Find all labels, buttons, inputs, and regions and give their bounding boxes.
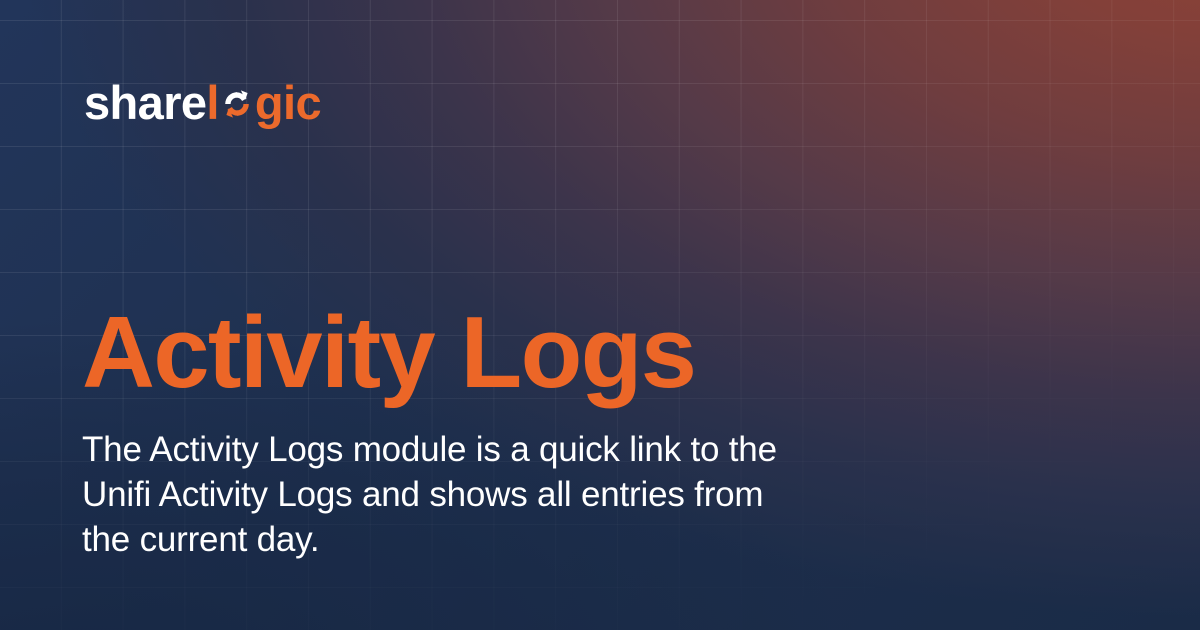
logo-text-l: l <box>206 79 218 126</box>
sharelogic-logo[interactable]: sharel gic <box>84 79 321 126</box>
page-title: Activity Logs <box>82 303 695 404</box>
logo-text-share: share <box>84 79 206 126</box>
logo-text-gic: gic <box>255 79 321 126</box>
description-line-2: Unifi Activity Logs and shows all entrie… <box>82 472 912 517</box>
description-line-1: The Activity Logs module is a quick link… <box>82 427 912 472</box>
page-description: The Activity Logs module is a quick link… <box>82 427 912 562</box>
banner-content: sharel gic Activity Logs The Activity Lo… <box>0 0 1200 630</box>
refresh-circle-icon <box>220 87 254 121</box>
activity-logs-banner: sharel gic Activity Logs The Activity Lo… <box>0 0 1200 630</box>
description-line-3: the current day. <box>82 517 912 562</box>
